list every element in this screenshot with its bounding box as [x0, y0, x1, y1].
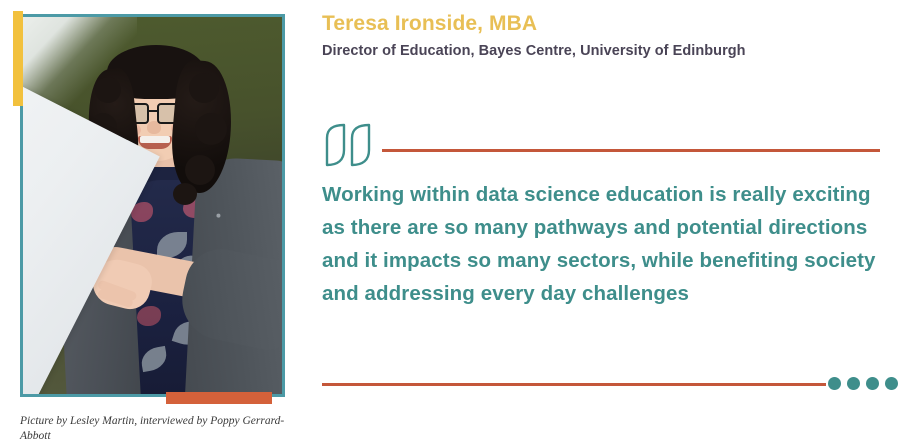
button-dot [216, 213, 220, 217]
photo-frame [20, 14, 285, 397]
flower-petal [137, 306, 161, 326]
hair-curl [95, 77, 121, 103]
portrait-photo [23, 17, 282, 394]
leaf-motif [157, 232, 187, 258]
divider-rule-top [382, 149, 880, 152]
accent-bar-yellow [13, 11, 23, 106]
quote-card: Picture by Lesley Martin, interviewed by… [0, 0, 900, 446]
person-name: Teresa Ironside, MBA [322, 12, 537, 36]
divider-rule-bottom [322, 383, 826, 386]
leaf-motif [139, 346, 168, 372]
photo-card: Picture by Lesley Martin, interviewed by… [0, 0, 310, 446]
glasses-bridge [149, 110, 157, 112]
photo-credit-caption: Picture by Lesley Martin, interviewed by… [20, 414, 288, 444]
dot-decoration [828, 377, 898, 390]
dot [866, 377, 879, 390]
quote-divider-row [322, 122, 880, 172]
accent-bar-orange [166, 392, 272, 404]
content-panel: Teresa Ironside, MBA Director of Educati… [322, 0, 884, 446]
quote-text: Working within data science education is… [322, 178, 884, 310]
person-role: Director of Education, Bayes Centre, Uni… [322, 43, 746, 59]
hair-curl [195, 113, 227, 145]
hair-curl [173, 183, 197, 205]
dot [847, 377, 860, 390]
hair-curl [189, 73, 219, 103]
hair-curl [185, 155, 215, 185]
dot [885, 377, 898, 390]
dot [828, 377, 841, 390]
teeth [140, 136, 170, 143]
quote-open-icon [324, 122, 376, 173]
